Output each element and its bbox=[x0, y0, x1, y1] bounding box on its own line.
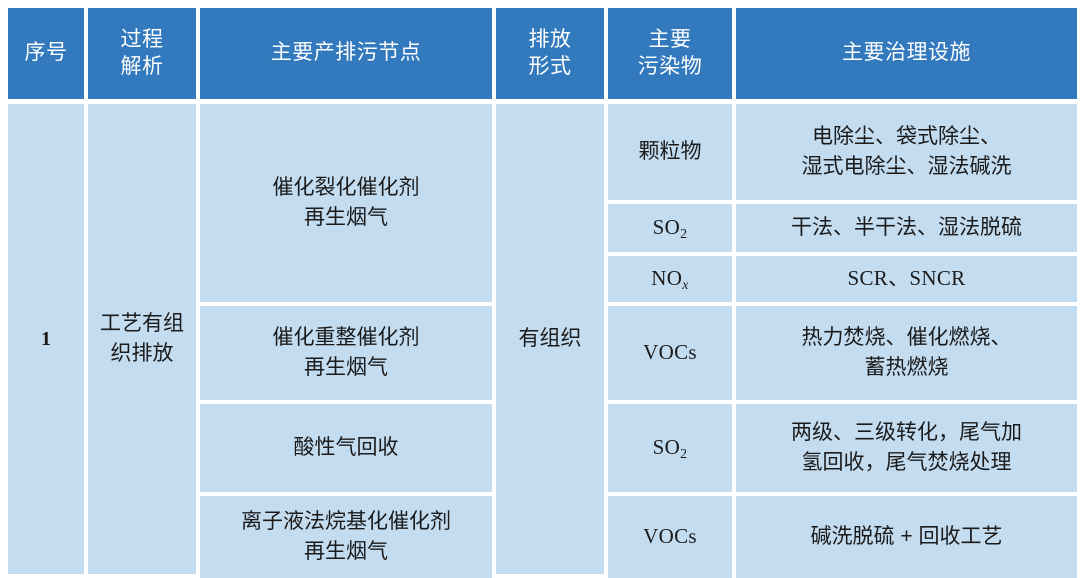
pollutant-5-value: SO2 bbox=[653, 435, 688, 459]
emission-table-container: 序号 过程 解析 主要产排污节点 排放 形式 主要 污染物 bbox=[8, 8, 1077, 570]
cell-pollutant-3: NOx bbox=[608, 256, 736, 306]
pollutant-3-value: NOx bbox=[651, 266, 688, 290]
header-main-emission-nodes-label: 主要产排污节点 bbox=[271, 41, 422, 64]
treatment-4-line1: 热力焚烧、催化燃烧、 bbox=[740, 323, 1073, 353]
cell-process-analysis: 工艺有组 织排放 bbox=[88, 104, 200, 578]
table-body: 1 工艺有组 织排放 催化裂化催化剂 再生烟气 有组织 颗粒物 电除尘、袋式除尘 bbox=[8, 104, 1077, 578]
header-main-pollutants-line1: 主要 bbox=[612, 27, 728, 54]
emission-node-3-line1: 酸性气回收 bbox=[204, 433, 488, 463]
header-emission-form-line2: 形式 bbox=[500, 54, 600, 81]
treatment-1-line2: 湿式电除尘、湿法碱洗 bbox=[740, 152, 1073, 182]
emission-node-4-line2: 再生烟气 bbox=[204, 537, 488, 567]
treatment-2-line1: 干法、半干法、湿法脱硫 bbox=[791, 216, 1022, 239]
table-header: 序号 过程 解析 主要产排污节点 排放 形式 主要 污染物 bbox=[8, 8, 1077, 104]
cell-emission-node-1: 催化裂化催化剂 再生烟气 bbox=[200, 104, 496, 306]
pollutant-5-subscript: 2 bbox=[680, 446, 687, 461]
pollutant-1-value: 颗粒物 bbox=[639, 140, 702, 163]
treatment-5-line1: 两级、三级转化，尾气加 bbox=[740, 418, 1073, 448]
header-serial-number-label: 序号 bbox=[25, 41, 68, 64]
table-row: 1 工艺有组 织排放 催化裂化催化剂 再生烟气 有组织 颗粒物 电除尘、袋式除尘 bbox=[8, 104, 1077, 204]
treatment-6-line1: 碱洗脱硫 + 回收工艺 bbox=[811, 525, 1003, 548]
header-process-analysis-line1: 过程 bbox=[92, 27, 192, 54]
cell-treatment-4: 热力焚烧、催化燃烧、 蓄热燃烧 bbox=[736, 306, 1077, 404]
cell-treatment-1: 电除尘、袋式除尘、 湿式电除尘、湿法碱洗 bbox=[736, 104, 1077, 204]
treatment-5-line2: 氢回收，尾气焚烧处理 bbox=[740, 448, 1073, 478]
header-main-emission-nodes: 主要产排污节点 bbox=[200, 8, 496, 104]
header-main-treatment-facilities-label: 主要治理设施 bbox=[842, 41, 971, 64]
pollutant-2-base: SO bbox=[653, 215, 680, 239]
treatment-3-line1: SCR、SNCR bbox=[848, 266, 966, 290]
pollutant-3-subscript: x bbox=[682, 277, 688, 292]
cell-emission-node-3: 酸性气回收 bbox=[200, 404, 496, 496]
pollutant-2-value: SO2 bbox=[653, 215, 688, 239]
emission-form-value: 有组织 bbox=[519, 327, 582, 350]
pollutant-6-value: VOCs bbox=[643, 524, 697, 548]
cell-pollutant-2: SO2 bbox=[608, 204, 736, 256]
cell-emission-node-2: 催化重整催化剂 再生烟气 bbox=[200, 306, 496, 404]
emission-node-1-line1: 催化裂化催化剂 bbox=[204, 173, 488, 203]
emission-node-2-line1: 催化重整催化剂 bbox=[204, 323, 488, 353]
cell-treatment-3: SCR、SNCR bbox=[736, 256, 1077, 306]
treatment-1-line1: 电除尘、袋式除尘、 bbox=[740, 122, 1073, 152]
header-serial-number: 序号 bbox=[8, 8, 88, 104]
header-emission-form: 排放 形式 bbox=[496, 8, 608, 104]
header-main-pollutants-line2: 污染物 bbox=[612, 54, 728, 81]
header-process-analysis-line2: 解析 bbox=[92, 54, 192, 81]
cell-treatment-2: 干法、半干法、湿法脱硫 bbox=[736, 204, 1077, 256]
pollutant-5-base: SO bbox=[653, 435, 680, 459]
serial-number-value: 1 bbox=[41, 328, 51, 350]
header-process-analysis: 过程 解析 bbox=[88, 8, 200, 104]
cell-treatment-6: 碱洗脱硫 + 回收工艺 bbox=[736, 496, 1077, 578]
cell-pollutant-4: VOCs bbox=[608, 306, 736, 404]
pollutant-4-value: VOCs bbox=[643, 340, 697, 364]
header-row: 序号 过程 解析 主要产排污节点 排放 形式 主要 污染物 bbox=[8, 8, 1077, 104]
header-main-pollutants: 主要 污染物 bbox=[608, 8, 736, 104]
cell-serial-number: 1 bbox=[8, 104, 88, 578]
emission-node-1-line2: 再生烟气 bbox=[204, 203, 488, 233]
pollutant-3-base: NO bbox=[651, 266, 682, 290]
process-analysis-line1: 工艺有组 bbox=[92, 309, 192, 339]
cell-pollutant-5: SO2 bbox=[608, 404, 736, 496]
cell-emission-node-4: 离子液法烷基化催化剂 再生烟气 bbox=[200, 496, 496, 578]
header-emission-form-line1: 排放 bbox=[500, 27, 600, 54]
header-main-treatment-facilities: 主要治理设施 bbox=[736, 8, 1077, 104]
cell-emission-form: 有组织 bbox=[496, 104, 608, 578]
treatment-4-line2: 蓄热燃烧 bbox=[740, 353, 1073, 383]
process-analysis-line2: 织排放 bbox=[92, 339, 192, 369]
emission-inventory-table: 序号 过程 解析 主要产排污节点 排放 形式 主要 污染物 bbox=[8, 8, 1077, 578]
cell-pollutant-6: VOCs bbox=[608, 496, 736, 578]
emission-node-2-line2: 再生烟气 bbox=[204, 353, 488, 383]
cell-pollutant-1: 颗粒物 bbox=[608, 104, 736, 204]
pollutant-2-subscript: 2 bbox=[680, 226, 687, 241]
emission-node-4-line1: 离子液法烷基化催化剂 bbox=[204, 507, 488, 537]
cell-treatment-5: 两级、三级转化，尾气加 氢回收，尾气焚烧处理 bbox=[736, 404, 1077, 496]
